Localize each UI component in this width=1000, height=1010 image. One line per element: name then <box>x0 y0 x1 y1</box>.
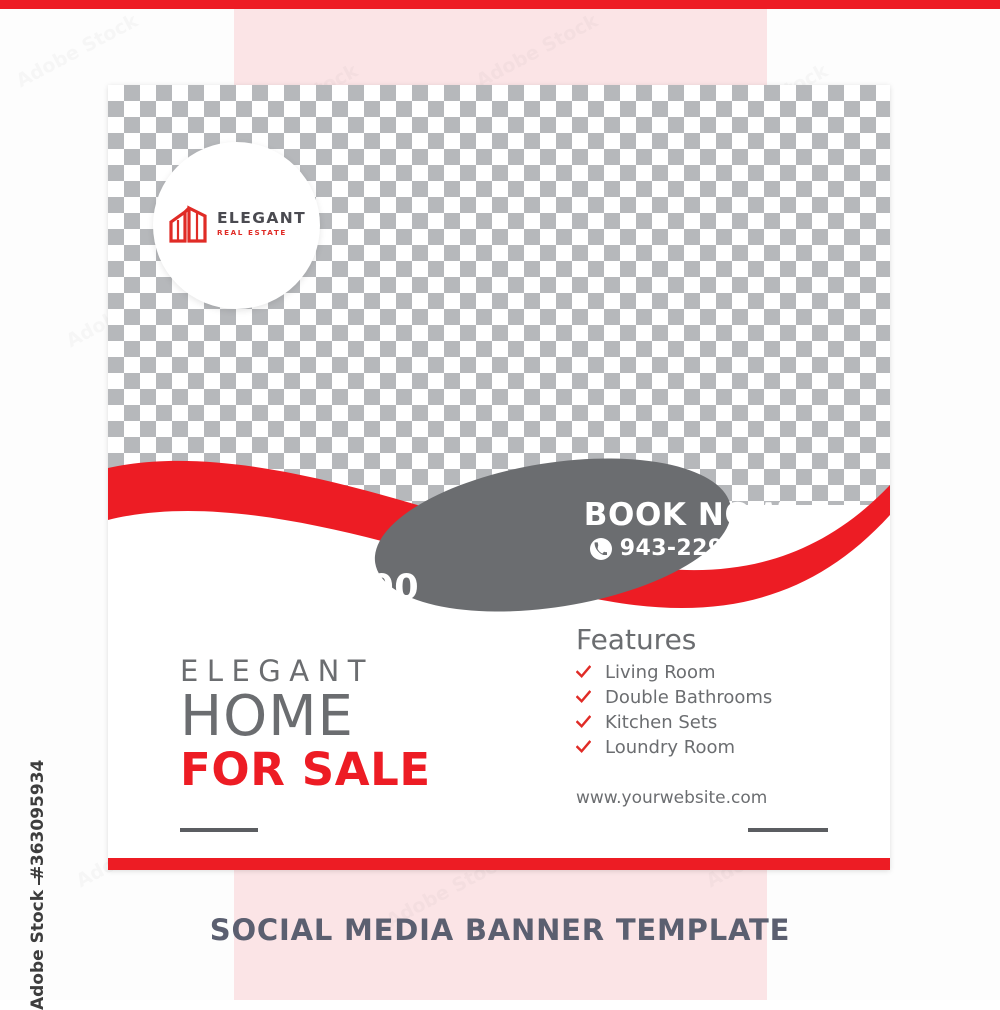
list-item: Loundry Room <box>576 735 772 760</box>
logo-subtitle: REAL ESTATE <box>217 229 306 236</box>
phone-icon <box>590 538 612 560</box>
top-red-bar <box>0 0 1000 9</box>
headline-block: ELEGANT HOME FOR SALE <box>180 654 431 793</box>
features-title: Features <box>576 623 772 656</box>
divider-dash-left <box>180 828 258 832</box>
headline-line-3: FOR SALE <box>180 746 431 793</box>
headline-line-1: ELEGANT <box>180 654 431 688</box>
stock-sidebar: #363095934 Adobe Stock <box>18 0 58 1000</box>
price-value: $ 1.299.000 <box>180 568 419 608</box>
check-icon <box>576 690 591 705</box>
page-background: Adobe Stock Adobe Stock Adobe Stock Adob… <box>0 0 1000 1000</box>
book-now-title: BOOK NOW <box>535 497 835 533</box>
banner-card: ELEGANT REAL ESTATE Starts From $ 1.299.… <box>108 85 890 870</box>
feature-label: Living Room <box>605 662 716 683</box>
logo-badge: ELEGANT REAL ESTATE <box>153 142 320 309</box>
feature-label: Kitchen Sets <box>605 712 717 733</box>
logo-title: ELEGANT <box>217 211 306 227</box>
stock-name-label: Adobe Stock <box>28 890 48 1010</box>
list-item: Kitchen Sets <box>576 710 772 735</box>
elegant-buildings-logo-mark <box>167 204 210 244</box>
feature-label: Loundry Room <box>605 737 735 758</box>
card-bottom-red-bar <box>108 858 890 870</box>
feature-label: Double Bathrooms <box>605 687 772 708</box>
list-item: Living Room <box>576 660 772 685</box>
divider-dash-right <box>748 828 828 832</box>
stock-id-label: #363095934 <box>28 760 48 881</box>
price-label: Starts From <box>180 543 419 565</box>
book-now-block[interactable]: BOOK NOW 943-229-175 <box>535 497 835 561</box>
check-icon <box>576 740 591 755</box>
page-caption: SOCIAL MEDIA BANNER TEMPLATE <box>0 913 1000 947</box>
features-block: Features Living Room Double Bathrooms Ki… <box>576 623 772 760</box>
check-icon <box>576 665 591 680</box>
logo-wordmark: ELEGANT REAL ESTATE <box>217 211 306 236</box>
check-icon <box>576 715 591 730</box>
book-now-phone-row: 943-229-175 <box>535 536 835 561</box>
book-now-phone: 943-229-175 <box>620 536 780 561</box>
logo-lockup: ELEGANT REAL ESTATE <box>167 204 306 244</box>
price-block: Starts From $ 1.299.000 <box>180 543 419 608</box>
website-url[interactable]: www.yourwebsite.com <box>576 788 767 808</box>
list-item: Double Bathrooms <box>576 685 772 710</box>
sidebar-divider <box>38 867 40 885</box>
headline-line-2: HOME <box>180 690 431 744</box>
